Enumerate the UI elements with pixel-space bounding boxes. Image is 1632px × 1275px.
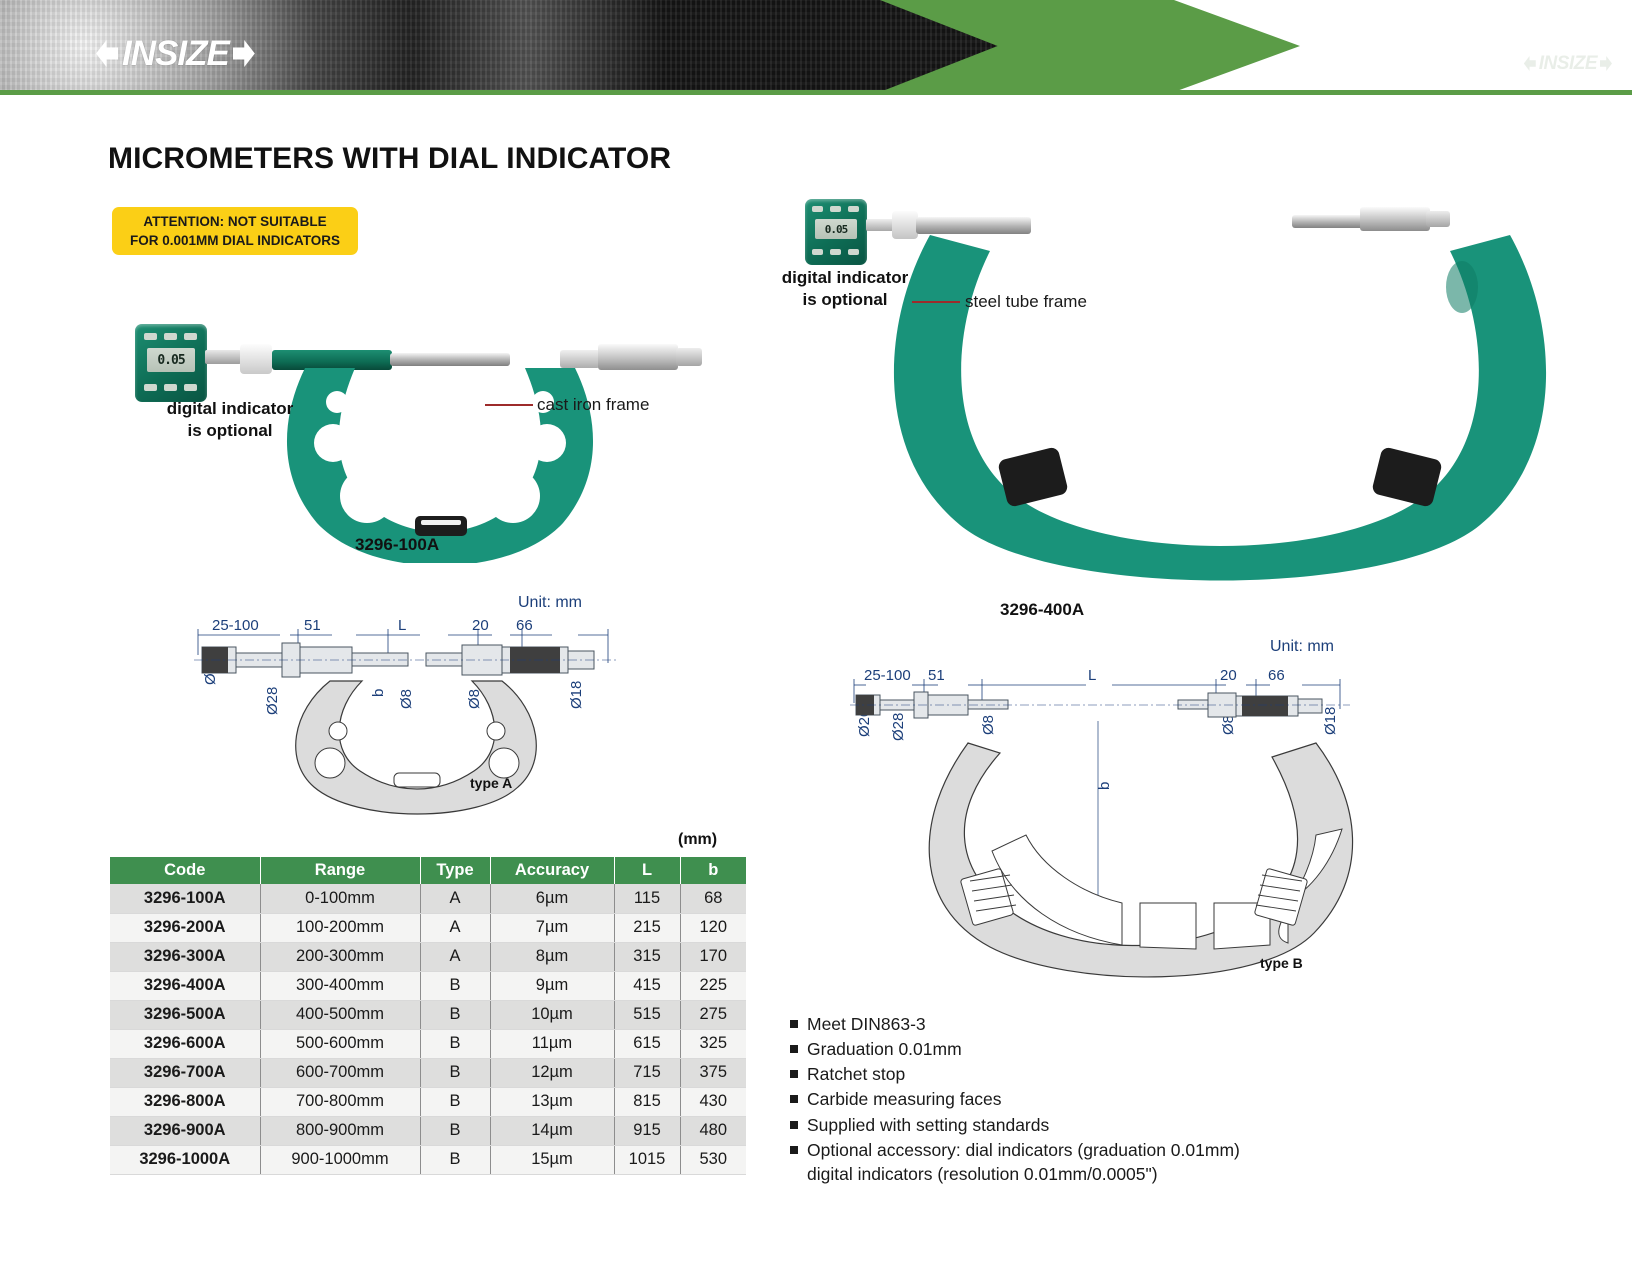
cast-iron-frame-leader-line — [485, 404, 533, 406]
indicator-display-value: 0.05 — [157, 353, 184, 368]
table-row: 3296-900A800-900mmB14µm915480 — [110, 1116, 746, 1145]
watermark-right-arrow-icon — [1600, 56, 1612, 71]
micrometer-spindle — [560, 350, 600, 368]
cell-code: 3296-300A — [110, 942, 260, 971]
cell-l: 915 — [614, 1116, 680, 1145]
cell-range: 0-100mm — [260, 884, 420, 913]
indicator-b-button-6 — [848, 249, 859, 255]
cell-code: 3296-500A — [110, 1000, 260, 1029]
feature-text: Supplied with setting standards — [807, 1113, 1049, 1137]
cell-accuracy: 7µm — [490, 913, 614, 942]
cell-accuracy: 8µm — [490, 942, 614, 971]
cell-accuracy: 12µm — [490, 1058, 614, 1087]
cell-range: 600-700mm — [260, 1058, 420, 1087]
page-title: MICROMETERS WITH DIAL INDICATOR — [108, 142, 671, 176]
cell-l: 415 — [614, 971, 680, 1000]
cell-accuracy: 14µm — [490, 1116, 614, 1145]
feature-text: Graduation 0.01mm — [807, 1037, 962, 1061]
cell-b: 430 — [680, 1087, 746, 1116]
cell-accuracy: 11µm — [490, 1029, 614, 1058]
cell-code: 3296-200A — [110, 913, 260, 942]
feature-item: Graduation 0.01mm — [790, 1037, 1410, 1061]
indicator-b-button-2 — [830, 206, 841, 212]
attention-line-2: FOR 0.001MM DIAL INDICATORS — [130, 231, 340, 250]
cell-range: 400-500mm — [260, 1000, 420, 1029]
cell-b: 480 — [680, 1116, 746, 1145]
feature-item: Supplied with setting standards — [790, 1113, 1410, 1137]
product-code-3296-400a: 3296-400A — [1000, 600, 1084, 620]
table-row: 3296-600A500-600mmB11µm615325 — [110, 1029, 746, 1058]
cell-l: 515 — [614, 1000, 680, 1029]
cell-range: 500-600mm — [260, 1029, 420, 1058]
indicator-button-2 — [164, 333, 177, 340]
cell-b: 325 — [680, 1029, 746, 1058]
technical-drawing-type-b: Unit: mm 25-100 51 L 20 66 Ø20 Ø28 Ø8 Ø8… — [840, 635, 1420, 985]
cell-b: 170 — [680, 942, 746, 971]
bullet-square-icon — [790, 1095, 798, 1103]
indicator-b-display-value: 0.05 — [825, 223, 848, 236]
table-row: 3296-400A300-400mmB9µm415225 — [110, 971, 746, 1000]
page-header: INSIZE INSIZE — [0, 0, 1632, 96]
cell-l: 115 — [614, 884, 680, 913]
cell-code: 3296-900A — [110, 1116, 260, 1145]
column-header-l: L — [614, 857, 680, 884]
indicator-button-1 — [144, 333, 157, 340]
table-row: 3296-500A400-500mmB10µm515275 — [110, 1000, 746, 1029]
cell-b: 530 — [680, 1145, 746, 1174]
cell-code: 3296-400A — [110, 971, 260, 1000]
feature-text: Optional accessory: dial indicators (gra… — [807, 1138, 1240, 1186]
watermark-text: INSIZE — [1539, 54, 1597, 73]
steel-tube-frame-label: steel tube frame — [965, 292, 1087, 312]
insize-watermark: INSIZE — [1524, 54, 1612, 73]
drawing-a-caption: type A — [470, 775, 512, 791]
table-unit-note: (mm) — [678, 831, 717, 849]
table-row: 3296-200A100-200mmA7µm215120 — [110, 913, 746, 942]
digital-indicator-icon-b: 0.05 — [805, 199, 867, 265]
logo-right-arrow-icon — [233, 40, 255, 67]
indicator-button-5 — [164, 384, 177, 391]
digital-indicator-icon: 0.05 — [135, 324, 207, 402]
cell-l: 615 — [614, 1029, 680, 1058]
feature-item: Carbide measuring faces — [790, 1087, 1410, 1111]
cell-type: B — [420, 1029, 490, 1058]
bullet-square-icon — [790, 1121, 798, 1129]
cell-accuracy: 15µm — [490, 1145, 614, 1174]
cast-iron-frame-label: cast iron frame — [537, 395, 649, 415]
cell-accuracy: 6µm — [490, 884, 614, 913]
cell-l: 815 — [614, 1087, 680, 1116]
cell-accuracy: 10µm — [490, 1000, 614, 1029]
cell-code: 3296-700A — [110, 1058, 260, 1087]
indicator-clamp — [240, 344, 272, 374]
table-row: 3296-1000A900-1000mmB15µm1015530 — [110, 1145, 746, 1174]
cell-range: 200-300mm — [260, 942, 420, 971]
cell-code: 3296-600A — [110, 1029, 260, 1058]
feature-item: Optional accessory: dial indicators (gra… — [790, 1138, 1410, 1186]
indicator-button-6 — [184, 384, 197, 391]
cell-code: 3296-1000A — [110, 1145, 260, 1174]
indicator-b-display: 0.05 — [815, 219, 857, 239]
column-header-code: Code — [110, 857, 260, 884]
column-header-b: b — [680, 857, 746, 884]
insize-logo: INSIZE — [96, 36, 255, 71]
indicator-b-button-3 — [848, 206, 859, 212]
attention-line-1: ATTENTION: NOT SUITABLE — [143, 212, 326, 231]
product-code-3296-100a: 3296-100A — [355, 535, 439, 555]
micrometer-green-shaft — [272, 350, 392, 370]
column-header-accuracy: Accuracy — [490, 857, 614, 884]
micrometer-thimble — [598, 344, 678, 370]
indicator-button-3 — [184, 333, 197, 340]
feature-item: Meet DIN863-3 — [790, 1012, 1410, 1036]
bullet-square-icon — [790, 1045, 798, 1053]
watermark-left-arrow-icon — [1524, 56, 1536, 71]
cell-accuracy: 13µm — [490, 1087, 614, 1116]
cell-type: B — [420, 971, 490, 1000]
cell-l: 715 — [614, 1058, 680, 1087]
column-header-range: Range — [260, 857, 420, 884]
cell-type: B — [420, 1116, 490, 1145]
cell-l: 215 — [614, 913, 680, 942]
table-row: 3296-700A600-700mmB12µm715375 — [110, 1058, 746, 1087]
cell-type: B — [420, 1087, 490, 1116]
micrometer-ratchet-stop — [676, 348, 702, 366]
table-header-row: Code Range Type Accuracy L b — [110, 857, 746, 884]
cell-range: 900-1000mm — [260, 1145, 420, 1174]
table-row: 3296-100A0-100mmA6µm11568 — [110, 884, 746, 913]
technical-drawing-type-a: Unit: mm 25-100 51 L 20 66 Ø20 Ø28 Ø8 Ø8… — [180, 585, 640, 815]
feature-text: Carbide measuring faces — [807, 1087, 1002, 1111]
cell-code: 3296-100A — [110, 884, 260, 913]
indicator-display: 0.05 — [147, 348, 195, 372]
logo-left-arrow-icon — [96, 40, 118, 67]
cell-b: 275 — [680, 1000, 746, 1029]
attention-box: ATTENTION: NOT SUITABLE FOR 0.001MM DIAL… — [112, 207, 358, 255]
indicator-b-button-5 — [830, 249, 841, 255]
cell-type: A — [420, 913, 490, 942]
drawing-b-caption: type B — [1260, 955, 1303, 971]
indicator-stem — [205, 350, 241, 364]
feature-list: Meet DIN863-3Graduation 0.01mmRatchet st… — [790, 1012, 1410, 1187]
indicator-b-button-4 — [812, 249, 823, 255]
table-row: 3296-800A700-800mmB13µm815430 — [110, 1087, 746, 1116]
bullet-square-icon — [790, 1020, 798, 1028]
feature-text: Meet DIN863-3 — [807, 1012, 926, 1036]
cell-type: A — [420, 942, 490, 971]
indicator-b-button-1 — [812, 206, 823, 212]
feature-text: Ratchet stop — [807, 1062, 905, 1086]
cell-b: 68 — [680, 884, 746, 913]
bullet-square-icon — [790, 1146, 798, 1154]
column-header-type: Type — [420, 857, 490, 884]
cell-range: 100-200mm — [260, 913, 420, 942]
feature-item: Ratchet stop — [790, 1062, 1410, 1086]
header-green-rule — [0, 90, 1632, 95]
cell-type: B — [420, 1058, 490, 1087]
cell-accuracy: 9µm — [490, 971, 614, 1000]
cell-type: A — [420, 884, 490, 913]
cell-range: 300-400mm — [260, 971, 420, 1000]
indicator-button-4 — [144, 384, 157, 391]
digital-indicator-optional-label-b: digital indicator is optional — [710, 267, 980, 311]
specification-table: Code Range Type Accuracy L b 3296-100A0-… — [110, 857, 746, 1175]
product-image-3296-100a: 0.05 cast iron frame digital indicator i… — [100, 300, 700, 570]
logo-text: INSIZE — [122, 36, 229, 71]
digital-indicator-optional-label-a: digital indicator is optional — [100, 398, 360, 442]
cell-range: 700-800mm — [260, 1087, 420, 1116]
cell-b: 375 — [680, 1058, 746, 1087]
cell-type: B — [420, 1000, 490, 1029]
table-row: 3296-300A200-300mmA8µm315170 — [110, 942, 746, 971]
cell-range: 800-900mm — [260, 1116, 420, 1145]
bullet-square-icon — [790, 1070, 798, 1078]
cell-b: 120 — [680, 913, 746, 942]
cell-l: 315 — [614, 942, 680, 971]
micrometer-steel-rod — [390, 353, 510, 366]
cell-l: 1015 — [614, 1145, 680, 1174]
product-image-3296-400a: 0.05 steel tube frame digital indicator … — [700, 185, 1580, 625]
cell-code: 3296-800A — [110, 1087, 260, 1116]
cell-type: B — [420, 1145, 490, 1174]
cell-b: 225 — [680, 971, 746, 1000]
